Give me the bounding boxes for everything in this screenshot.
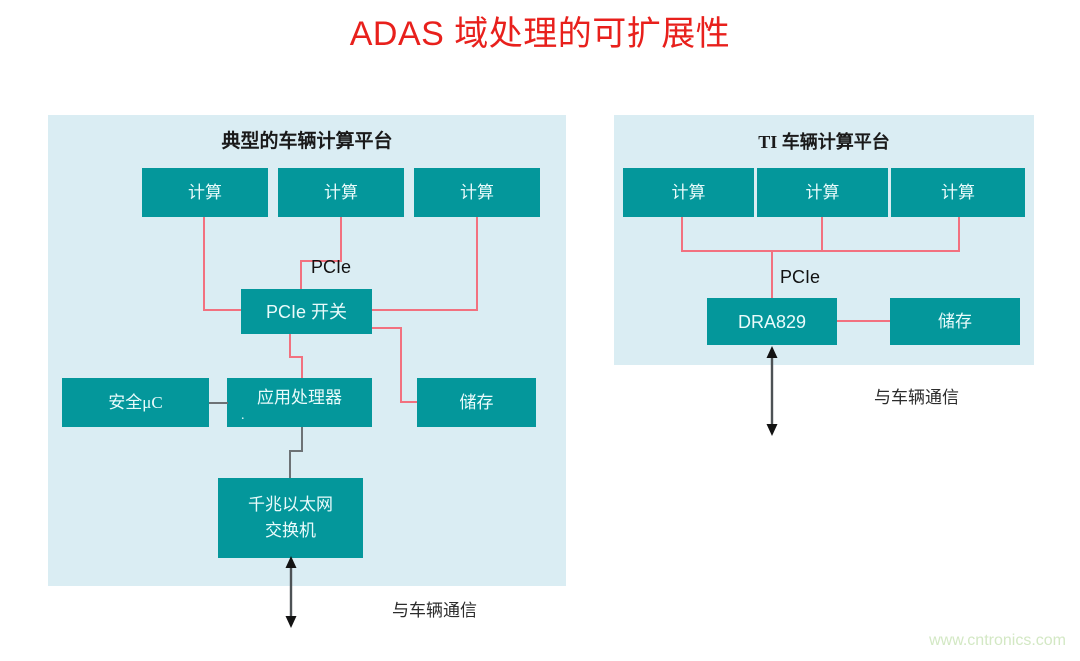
left-compute-box-1[interactable]: 计算 <box>142 168 268 217</box>
left-link-switch-app-vertical-lower <box>301 356 303 379</box>
left-link-switch-storage-vertical <box>400 327 402 402</box>
left-link-mcu-app <box>209 402 228 404</box>
left-compute-box-3[interactable]: 计算 <box>414 168 540 217</box>
right-compute-box-3[interactable]: 计算 <box>891 168 1025 217</box>
left-vehicle-comm-arrow <box>281 556 301 628</box>
left-link-compute3-horizontal <box>370 309 478 311</box>
right-link-soc-storage <box>837 320 890 322</box>
left-vehicle-comm-label: 与车辆通信 <box>392 600 477 622</box>
left-app-processor-box[interactable]: 应用处理器 . <box>227 378 372 427</box>
left-storage-box[interactable]: 储存 <box>417 378 536 427</box>
right-panel-title: TI 车辆计算平台 <box>614 129 1034 155</box>
right-link-compute1-vertical <box>681 217 683 252</box>
left-link-switch-storage-horizontal-bottom <box>400 401 418 403</box>
left-link-compute2-vertical-lower <box>300 260 302 291</box>
left-safety-mcu-box[interactable]: 安全μC <box>62 378 209 427</box>
right-vehicle-comm-arrow <box>762 346 782 436</box>
right-vehicle-comm-label: 与车辆通信 <box>874 387 959 409</box>
right-storage-box[interactable]: 储存 <box>890 298 1020 345</box>
left-link-app-eth-vertical-lower <box>289 450 291 479</box>
left-link-compute3-vertical <box>476 217 478 311</box>
left-link-switch-app-vertical-upper <box>289 334 291 358</box>
site-watermark: www.cntronics.com <box>929 631 1066 651</box>
left-link-compute1-horizontal <box>203 309 245 311</box>
left-pcie-label: PCIe <box>311 256 351 278</box>
right-link-compute2-vertical <box>821 217 823 252</box>
left-link-switch-storage-horizontal-top <box>372 327 402 329</box>
left-app-processor-sublabel: . <box>241 411 245 421</box>
right-compute-box-1[interactable]: 计算 <box>623 168 754 217</box>
right-link-pcie-bus-horizontal <box>681 250 960 252</box>
right-dra829-box[interactable]: DRA829 <box>707 298 837 345</box>
left-link-app-eth-vertical-upper <box>301 427 303 452</box>
page-title: ADAS 域处理的可扩展性 <box>0 12 1080 56</box>
left-panel-title: 典型的车辆计算平台 <box>48 129 566 155</box>
right-link-pcie-bus-dropdown <box>771 250 773 298</box>
right-link-compute3-vertical <box>958 217 960 252</box>
left-ethernet-switch-box[interactable]: 千兆以太网 交换机 <box>218 478 363 558</box>
right-pcie-label: PCIe <box>780 266 820 288</box>
left-pcie-switch-box[interactable]: PCIe 开关 <box>241 289 372 334</box>
left-app-processor-label: 应用处理器 <box>257 385 342 411</box>
left-link-app-eth-horizontal-jog <box>289 450 303 452</box>
left-link-compute1-vertical <box>203 217 205 311</box>
right-compute-box-2[interactable]: 计算 <box>757 168 888 217</box>
left-compute-box-2[interactable]: 计算 <box>278 168 404 217</box>
